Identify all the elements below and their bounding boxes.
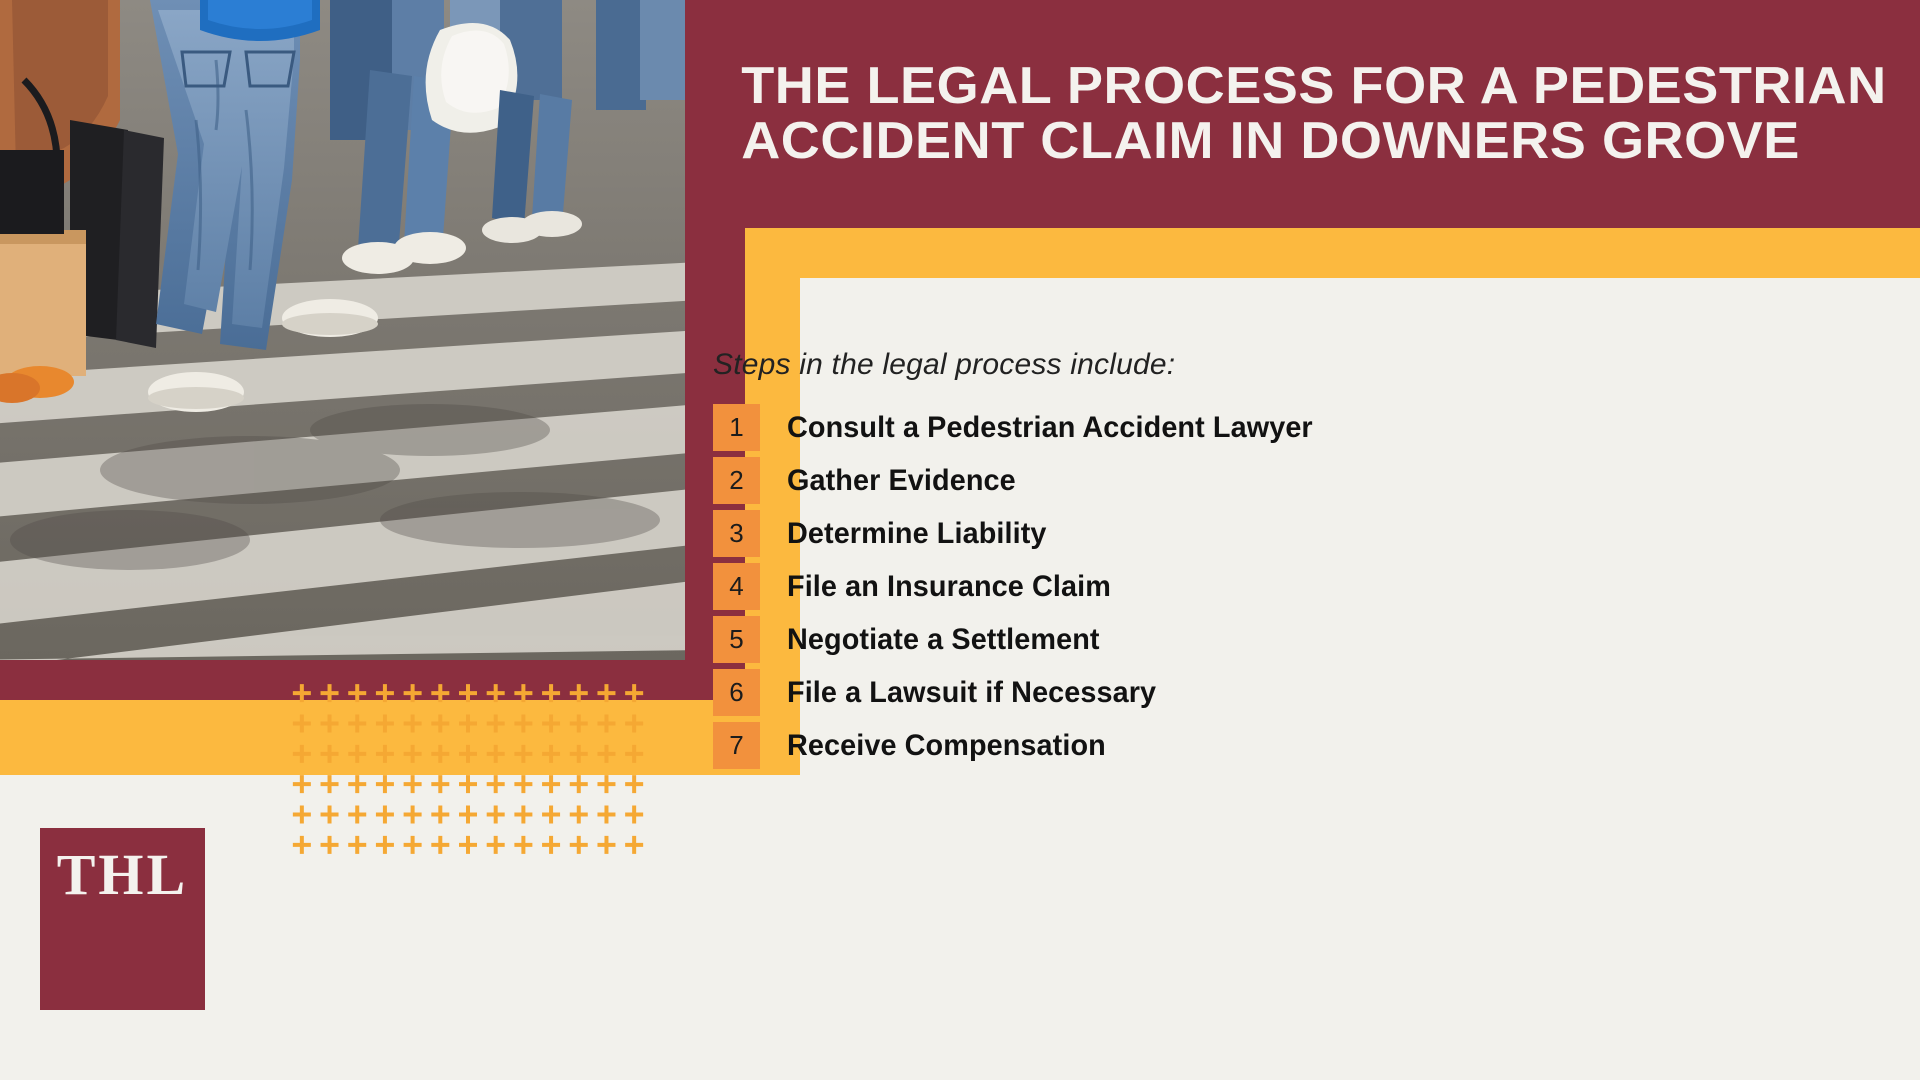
step-row: 5Negotiate a Settlement: [713, 616, 1893, 663]
step-row: 4File an Insurance Claim: [713, 563, 1893, 610]
step-number-badge: 1: [713, 404, 760, 451]
title-block: THE LEGAL PROCESS FOR A PEDESTRIAN ACCID…: [710, 0, 1920, 228]
logo-text: THL: [57, 828, 189, 904]
steps-section: Steps in the legal process include: 1Con…: [713, 348, 1893, 775]
steps-intro: Steps in the legal process include:: [713, 348, 1893, 382]
step-label: Gather Evidence: [787, 464, 1016, 498]
step-label: Receive Compensation: [787, 729, 1106, 763]
page-title: THE LEGAL PROCESS FOR A PEDESTRIAN ACCID…: [710, 59, 1920, 169]
step-number-badge: 4: [713, 563, 760, 610]
crosswalk-photo: [0, 0, 685, 660]
step-row: 2Gather Evidence: [713, 457, 1893, 504]
step-number-badge: 7: [713, 722, 760, 769]
step-row: 3Determine Liability: [713, 510, 1893, 557]
yellow-accent-bar: [760, 228, 1920, 278]
step-number-badge: 2: [713, 457, 760, 504]
plus-pattern-decoration: [288, 678, 648, 860]
step-number-badge: 5: [713, 616, 760, 663]
step-label: File an Insurance Claim: [787, 570, 1111, 604]
step-row: 1Consult a Pedestrian Accident Lawyer: [713, 404, 1893, 451]
step-label: File a Lawsuit if Necessary: [787, 676, 1156, 710]
step-label: Negotiate a Settlement: [787, 623, 1100, 657]
steps-list: 1Consult a Pedestrian Accident Lawyer2Ga…: [713, 404, 1893, 769]
step-number-badge: 6: [713, 669, 760, 716]
step-label: Consult a Pedestrian Accident Lawyer: [787, 411, 1313, 445]
step-row: 6File a Lawsuit if Necessary: [713, 669, 1893, 716]
left-column: THL: [0, 0, 710, 1080]
step-row: 7Receive Compensation: [713, 722, 1893, 769]
step-label: Determine Liability: [787, 517, 1047, 551]
thl-logo: THL: [40, 828, 205, 1010]
step-number-badge: 3: [713, 510, 760, 557]
